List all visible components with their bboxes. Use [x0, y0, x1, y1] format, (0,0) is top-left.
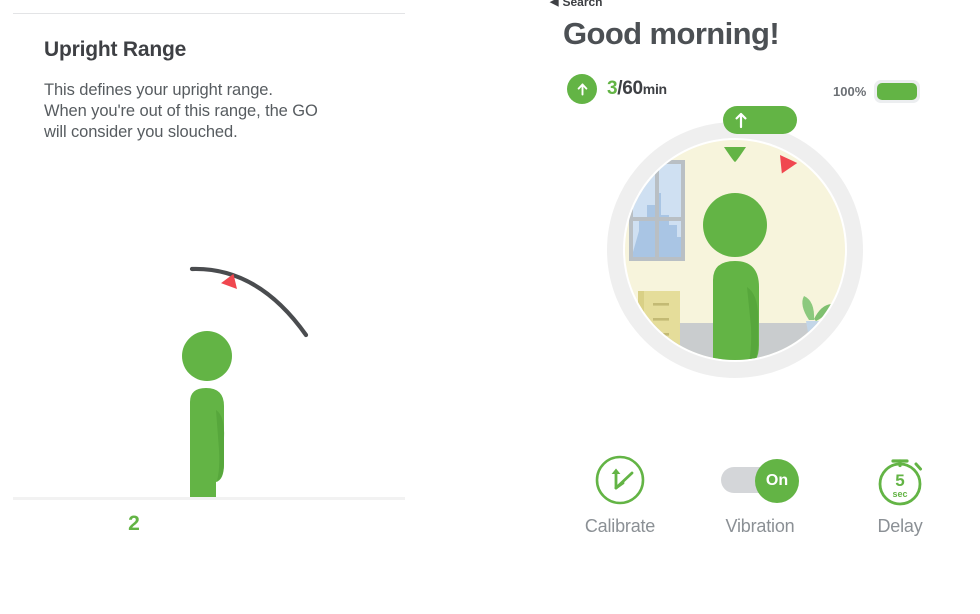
progress-label: 3/60min: [607, 78, 667, 100]
toggle-switch[interactable]: On: [721, 459, 799, 501]
delay-value: 5: [895, 471, 904, 490]
page-title: Upright Range: [44, 38, 186, 62]
floor-line: [13, 497, 405, 500]
back-to-search-link[interactable]: ◀ Search: [550, 0, 603, 9]
progress-current: 3: [607, 78, 617, 99]
up-arrow-icon: [567, 74, 597, 104]
dashboard-panel: ◀ Search Good morning! 3/60min 100%: [540, 0, 980, 614]
panel-divider: [13, 13, 405, 14]
delay-label: Delay: [877, 516, 922, 537]
upright-range-panel: Upright Range This defines your upright …: [0, 0, 420, 614]
toggle-knob[interactable]: On: [755, 459, 799, 503]
progress-unit: min: [643, 81, 667, 97]
battery-icon: [874, 80, 920, 103]
page-description: This defines your upright range. When yo…: [44, 80, 394, 143]
back-link-label: Search: [562, 0, 602, 9]
app-root: Upright Range This defines your upright …: [0, 0, 980, 614]
toggle-switch-icon: On: [721, 452, 799, 508]
slider-value-label: 2: [106, 512, 162, 536]
controls-row: Calibrate On Vibration: [550, 452, 970, 537]
calibrate-button[interactable]: Calibrate: [550, 452, 690, 537]
posture-status-badge: [723, 106, 797, 134]
delay-unit: sec: [892, 489, 907, 499]
scene-person-head: [703, 193, 767, 257]
posture-figure: [172, 330, 252, 500]
back-caret-icon: ◀: [550, 0, 558, 8]
calibrate-angle-icon: [594, 452, 646, 508]
battery-indicator: 100%: [833, 80, 920, 103]
battery-fill: [877, 83, 917, 100]
greeting-title: Good morning!: [563, 16, 779, 52]
range-arc: [192, 269, 306, 335]
battery-percent-label: 100%: [833, 84, 866, 99]
vibration-toggle[interactable]: On Vibration: [690, 452, 830, 537]
progress-total: /60: [617, 78, 643, 99]
stopwatch-icon: 5 sec: [872, 452, 928, 508]
calibrate-label: Calibrate: [585, 516, 655, 537]
strictness-slider[interactable]: 2 Strict Relaxed: [0, 508, 420, 614]
figure-head: [182, 331, 232, 381]
vibration-label: Vibration: [726, 516, 795, 537]
posture-ring-illustration[interactable]: [595, 105, 875, 390]
delay-button[interactable]: 5 sec Delay: [830, 452, 970, 537]
daily-progress: 3/60min: [567, 74, 667, 104]
